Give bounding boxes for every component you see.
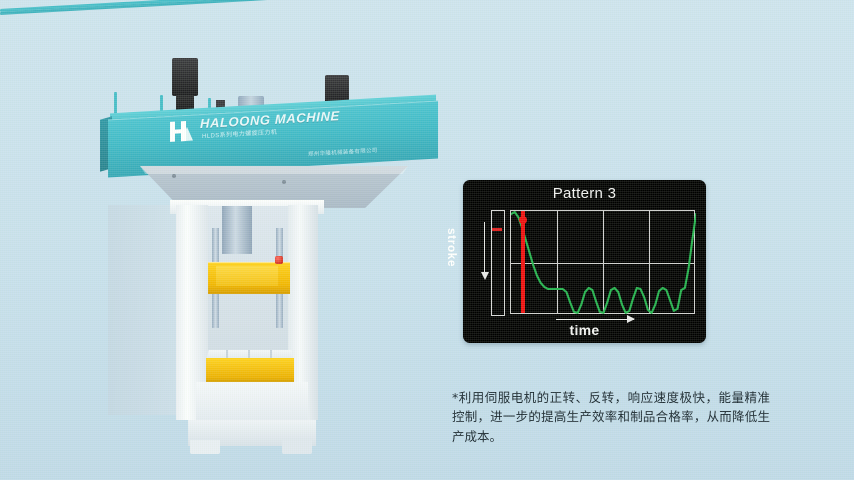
chart-title: Pattern 3 (463, 185, 706, 202)
press-base-upper (196, 382, 308, 424)
railing-post (114, 92, 117, 114)
press-machine-illustration: HALOONG MACHINE HLDS系列电力螺旋压力机 郑州华隆机械装备有限… (0, 0, 460, 480)
press-foot-left (190, 440, 220, 454)
scene-stage: HALOONG MACHINE HLDS系列电力螺旋压力机 郑州华隆机械装备有限… (0, 0, 854, 480)
caption-text: *利用伺服电机的正转、反转，响应速度极快，能量精准控制，进一步的提高生产效率和制… (452, 388, 770, 446)
stroke-position-marker (492, 228, 502, 231)
stroke-profile-curve (511, 211, 696, 315)
status-lamp-icon (275, 256, 283, 264)
press-foot-right (282, 440, 312, 454)
stroke-direction-arrow-icon (484, 222, 485, 274)
ram-cylinder (222, 206, 252, 254)
machine-trapezoid-highlight (140, 166, 408, 174)
stroke-indicator-bar (491, 210, 505, 316)
time-direction-arrow-icon (556, 319, 634, 320)
shroud-bolt (282, 180, 286, 184)
time-cursor-line[interactable] (521, 211, 525, 313)
haloong-logo-icon (168, 119, 194, 144)
press-bolster (206, 358, 294, 384)
y-axis-label: stroke (445, 228, 459, 298)
machine-left-wing (108, 205, 180, 415)
press-slide-face (216, 266, 278, 286)
shroud-bolt (172, 174, 176, 178)
motor-housing-left (172, 58, 198, 96)
time-cursor-handle[interactable] (519, 216, 527, 224)
x-axis-label: time (463, 322, 706, 338)
stroke-pattern-chart-panel: Pattern 3 stroke time (463, 180, 706, 343)
chart-plot-area (510, 210, 695, 314)
